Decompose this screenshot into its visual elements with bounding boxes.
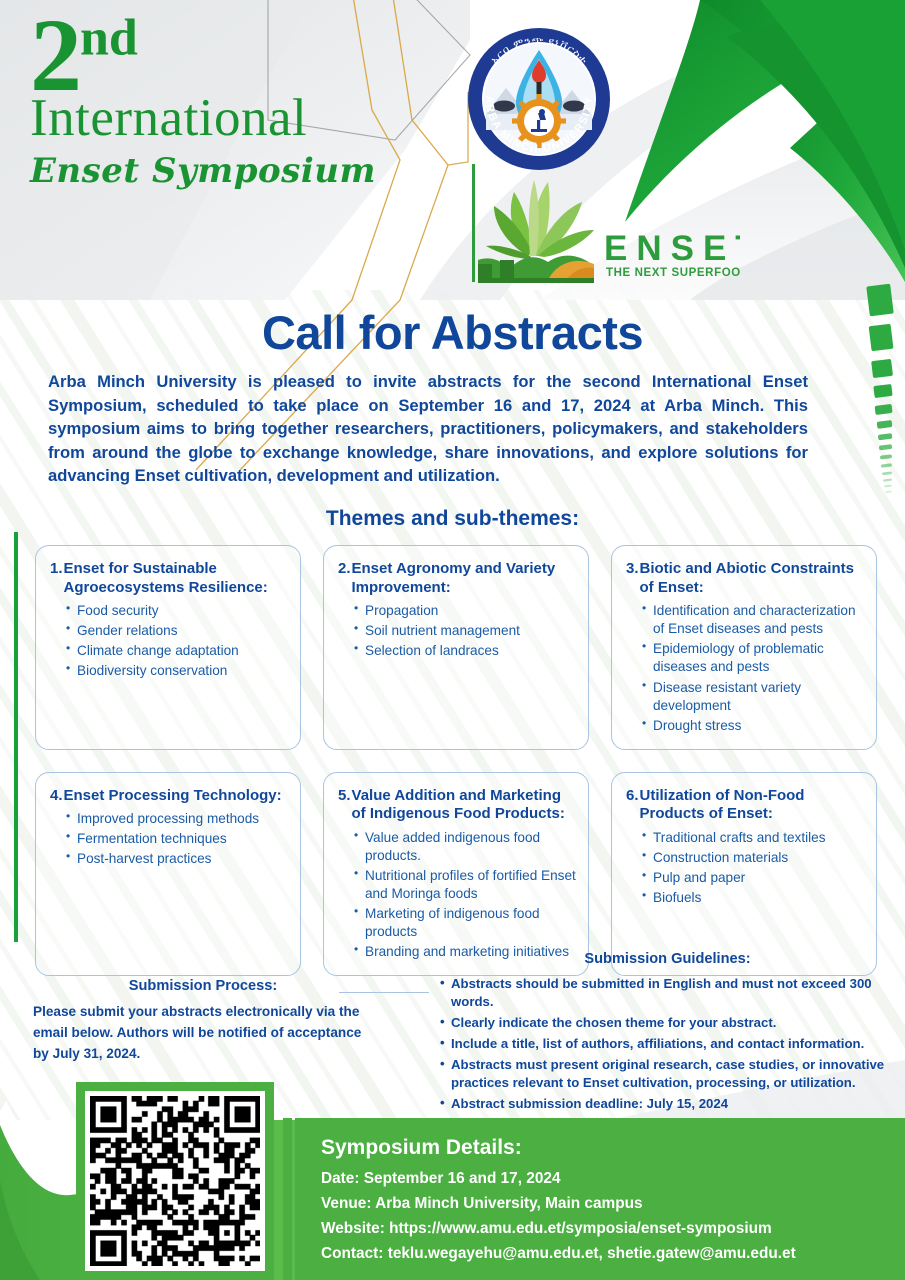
list-item: Abstract submission deadline: July 15, 2… bbox=[440, 1095, 895, 1113]
list-item: Traditional crafts and textiles bbox=[642, 829, 864, 847]
enset-tagline: THE NEXT SUPERFOOD bbox=[606, 267, 740, 279]
intro-paragraph: Arba Minch University is pleased to invi… bbox=[48, 370, 808, 488]
list-item: Clearly indicate the chosen theme for yo… bbox=[440, 1014, 895, 1032]
submission-guidelines-list: Abstracts should be submitted in English… bbox=[440, 975, 895, 1114]
list-item: Pulp and paper bbox=[642, 869, 864, 887]
theme-card-6-number: 6. bbox=[626, 787, 639, 824]
list-item: Climate change adaptation bbox=[66, 642, 288, 660]
theme-card-1-list: Food security Gender relations Climate c… bbox=[66, 602, 288, 680]
arba-minch-university-logo: አርባ ምንጭ ዩኒቨርስቲ ARBA MINCH UNIVERSITY bbox=[466, 26, 612, 172]
enset-wordmark: ENSET bbox=[604, 229, 740, 268]
theme-card-5-title: 5. Value Addition and Marketing of Indig… bbox=[338, 787, 576, 824]
theme-card-3-title-text: Biotic and Abiotic Constraints of Enset: bbox=[640, 560, 864, 597]
list-item: Propagation bbox=[354, 602, 576, 620]
themes-grid: 1. Enset for Sustainable Agroecosystems … bbox=[35, 545, 895, 976]
symposium-details-panel: Symposium Details: Date: September 16 an… bbox=[295, 1118, 905, 1280]
theme-card-2-title: 2. Enset Agronomy and Variety Improvemen… bbox=[338, 560, 576, 597]
theme-card-1-number: 1. bbox=[50, 560, 63, 597]
theme-card-6-title-text: Utilization of Non-Food Products of Ense… bbox=[640, 787, 864, 824]
theme-card-1-title: 1. Enset for Sustainable Agroecosystems … bbox=[50, 560, 288, 597]
list-item: Abstracts must present original research… bbox=[440, 1056, 895, 1092]
themes-row-1: 1. Enset for Sustainable Agroecosystems … bbox=[35, 545, 895, 750]
list-item: Construction materials bbox=[642, 849, 864, 867]
symposium-date: Date: September 16 and 17, 2024 bbox=[321, 1167, 905, 1192]
theme-card-1-title-text: Enset for Sustainable Agroecosystems Res… bbox=[64, 560, 288, 597]
theme-card-3-number: 3. bbox=[626, 560, 639, 597]
theme-card-4-title-text: Enset Processing Technology: bbox=[64, 787, 282, 806]
theme-card-3-list: Identification and characterization of E… bbox=[642, 602, 864, 735]
enset-logo: ENSET THE NEXT SUPERFOOD bbox=[470, 160, 740, 285]
list-item: Include a title, list of authors, affili… bbox=[440, 1035, 895, 1053]
submission-guidelines-block: Submission Guidelines: Abstracts should … bbox=[440, 950, 895, 1117]
list-item: Identification and characterization of E… bbox=[642, 602, 864, 638]
list-item: Epidemiology of problematic diseases and… bbox=[642, 640, 864, 676]
submission-guidelines-heading: Submission Guidelines: bbox=[440, 950, 895, 970]
theme-card-2: 2. Enset Agronomy and Variety Improvemen… bbox=[323, 545, 589, 750]
title-international: International bbox=[30, 92, 450, 145]
submission-process-body: Please submit your abstracts electronica… bbox=[33, 1004, 361, 1061]
theme-card-6-list: Traditional crafts and textiles Construc… bbox=[642, 829, 864, 907]
qr-code-frame[interactable] bbox=[76, 1082, 274, 1280]
theme-card-3: 3. Biotic and Abiotic Constraints of Ens… bbox=[611, 545, 877, 750]
theme-card-5-title-text: Value Addition and Marketing of Indigeno… bbox=[352, 787, 576, 824]
left-accent-rule bbox=[14, 532, 18, 942]
list-item: Value added indigenous food products. bbox=[354, 829, 576, 865]
theme-card-2-list: Propagation Soil nutrient management Sel… bbox=[354, 602, 576, 660]
enset-logo-divider bbox=[472, 164, 475, 282]
poster-root: 2nd International Enset Symposium bbox=[0, 0, 905, 1280]
list-item: Gender relations bbox=[66, 622, 288, 640]
list-item: Disease resistant variety development bbox=[642, 679, 864, 715]
list-item: Food security bbox=[66, 602, 288, 620]
list-item: Selection of landraces bbox=[354, 642, 576, 660]
list-item: Marketing of indigenous food products bbox=[354, 905, 576, 941]
symposium-details-heading: Symposium Details: bbox=[321, 1136, 905, 1160]
poster-title-block: 2nd International Enset Symposium bbox=[30, 8, 450, 191]
submission-process-heading: Submission Process: bbox=[33, 975, 373, 998]
symposium-venue: Venue: Arba Minch University, Main campu… bbox=[321, 1192, 905, 1217]
title-enset-symposium: Enset Symposium bbox=[30, 151, 450, 191]
qr-code[interactable] bbox=[90, 1096, 260, 1266]
list-item: Post-harvest practices bbox=[66, 850, 288, 868]
list-item: Drought stress bbox=[642, 717, 864, 735]
theme-card-5-number: 5. bbox=[338, 787, 351, 824]
theme-card-2-title-text: Enset Agronomy and Variety Improvement: bbox=[352, 560, 576, 597]
theme-card-6-title: 6. Utilization of Non-Food Products of E… bbox=[626, 787, 864, 824]
theme-card-4-title: 4. Enset Processing Technology: bbox=[50, 787, 288, 806]
qr-code-inner bbox=[85, 1091, 265, 1271]
themes-heading: Themes and sub-themes: bbox=[0, 507, 905, 531]
list-item: Biodiversity conservation bbox=[66, 662, 288, 680]
list-item: Nutritional profiles of fortified Enset … bbox=[354, 867, 576, 903]
theme-card-4-list: Improved processing methods Fermentation… bbox=[66, 810, 288, 868]
list-item: Improved processing methods bbox=[66, 810, 288, 828]
title-ordinal-suffix: nd bbox=[80, 9, 138, 66]
submission-process-block: Submission Process: Please submit your a… bbox=[33, 975, 373, 1064]
list-item: Biofuels bbox=[642, 889, 864, 907]
list-item: Abstracts should be submitted in English… bbox=[440, 975, 895, 1011]
theme-card-1: 1. Enset for Sustainable Agroecosystems … bbox=[35, 545, 301, 750]
theme-card-5-list: Value added indigenous food products. Nu… bbox=[354, 829, 576, 962]
list-item: Soil nutrient management bbox=[354, 622, 576, 640]
theme-card-6: 6. Utilization of Non-Food Products of E… bbox=[611, 772, 877, 977]
page-title: Call for Abstracts bbox=[0, 305, 905, 360]
symposium-contact[interactable]: Contact: teklu.wegayehu@amu.edu.et, shet… bbox=[321, 1242, 905, 1267]
theme-card-2-number: 2. bbox=[338, 560, 351, 597]
list-item: Fermentation techniques bbox=[66, 830, 288, 848]
theme-card-5: 5. Value Addition and Marketing of Indig… bbox=[323, 772, 589, 977]
themes-row-2: 4. Enset Processing Technology: Improved… bbox=[35, 772, 895, 977]
theme-card-3-title: 3. Biotic and Abiotic Constraints of Ens… bbox=[626, 560, 864, 597]
theme-card-4: 4. Enset Processing Technology: Improved… bbox=[35, 772, 301, 977]
symposium-website[interactable]: Website: https://www.amu.edu.et/symposia… bbox=[321, 1217, 905, 1242]
theme-card-4-number: 4. bbox=[50, 787, 63, 806]
